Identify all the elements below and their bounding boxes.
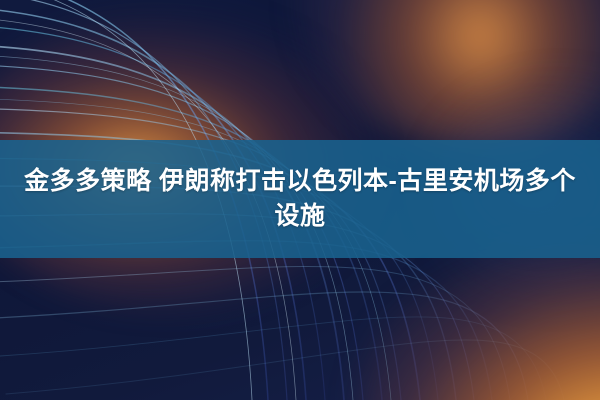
headline-line-2: 设施 <box>274 199 325 235</box>
thumbnail-canvas: 金多多策略 伊朗称打击以色列本-古里安机场多个 设施 <box>0 0 600 400</box>
headline-line-1: 金多多策略 伊朗称打击以色列本-古里安机场多个 <box>24 164 576 200</box>
headline-band: 金多多策略 伊朗称打击以色列本-古里安机场多个 设施 <box>0 140 600 258</box>
